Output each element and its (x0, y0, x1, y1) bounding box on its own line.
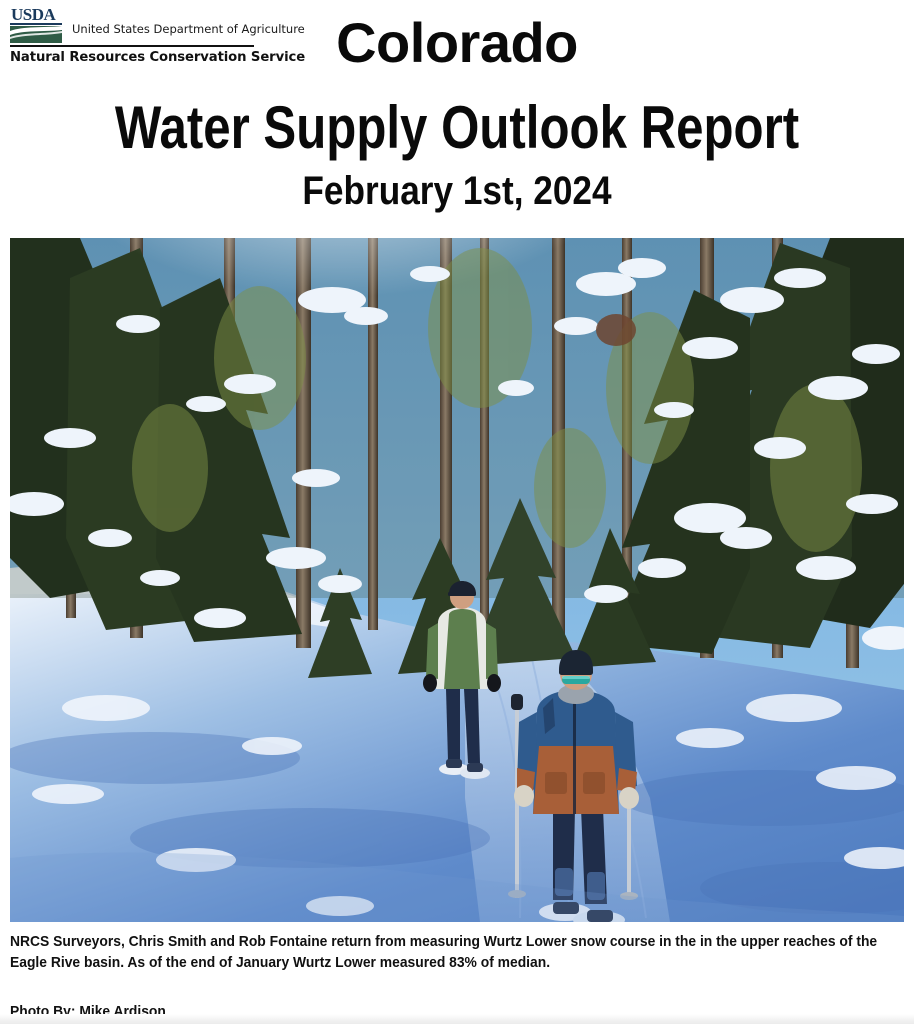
photo-caption: NRCS Surveyors, Chris Smith and Rob Font… (10, 932, 894, 974)
page-title-state: Colorado (0, 12, 914, 74)
page-bottom-edge (0, 1014, 914, 1024)
page-title-date: February 1st, 2024 (55, 168, 859, 214)
photo-caption-block: NRCS Surveyors, Chris Smith and Rob Font… (10, 932, 890, 974)
cover-photo (10, 238, 904, 922)
page-header: USDA United States Department of Agricul… (0, 0, 914, 232)
page-title-report: Water Supply Outlook Report (82, 94, 831, 162)
cover-photo-illustration (10, 238, 904, 922)
